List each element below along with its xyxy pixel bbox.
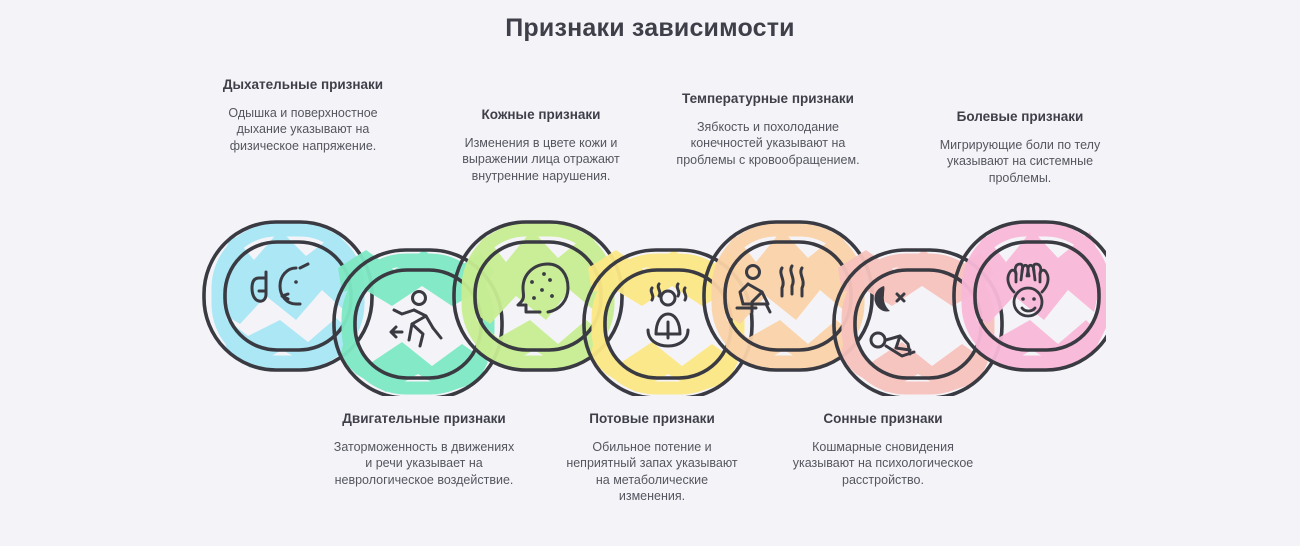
label-desc-motor: Заторможенность в движениях и речи указы… [330,439,518,489]
label-desc-sweat: Обильное потение и неприятный запах указ… [564,439,740,505]
label-title-pain: Болевые признаки [928,108,1112,126]
label-block-motor: Двигательные признаки Заторможенность в … [330,410,518,488]
chain-link-pain[interactable] [954,222,1106,370]
label-block-sweat: Потовые признаки Обильное потение и непр… [564,410,740,505]
label-desc-skin: Изменения в цвете кожи и выражении лица … [448,135,634,185]
label-desc-sleep: Кошмарные сновидения указывают на психол… [790,439,976,489]
label-title-motor: Двигательные признаки [330,410,518,428]
label-title-temperature: Температурные признаки [672,90,864,108]
label-title-breathing: Дыхательные признаки [214,76,392,94]
label-desc-breathing: Одышка и поверхностное дыхание указывают… [214,105,392,155]
label-title-skin: Кожные признаки [448,106,634,124]
label-block-temperature: Температурные признаки Зябкость и похоло… [672,90,864,168]
label-block-sleep: Сонные признаки Кошмарные сновидения ука… [790,410,976,488]
label-block-skin: Кожные признаки Изменения в цвете кожи и… [448,106,634,184]
label-block-breathing: Дыхательные признаки Одышка и поверхност… [214,76,392,154]
label-block-pain: Болевые признаки Мигрирующие боли по тел… [928,108,1112,186]
page-title: Признаки зависимости [0,14,1300,43]
label-desc-temperature: Зябкость и похолодание конечностей указы… [672,119,864,169]
label-title-sweat: Потовые признаки [564,410,740,428]
chain-diagram [196,216,1106,396]
label-desc-pain: Мигрирующие боли по телу указывают на си… [928,137,1112,187]
label-title-sleep: Сонные признаки [790,410,976,428]
